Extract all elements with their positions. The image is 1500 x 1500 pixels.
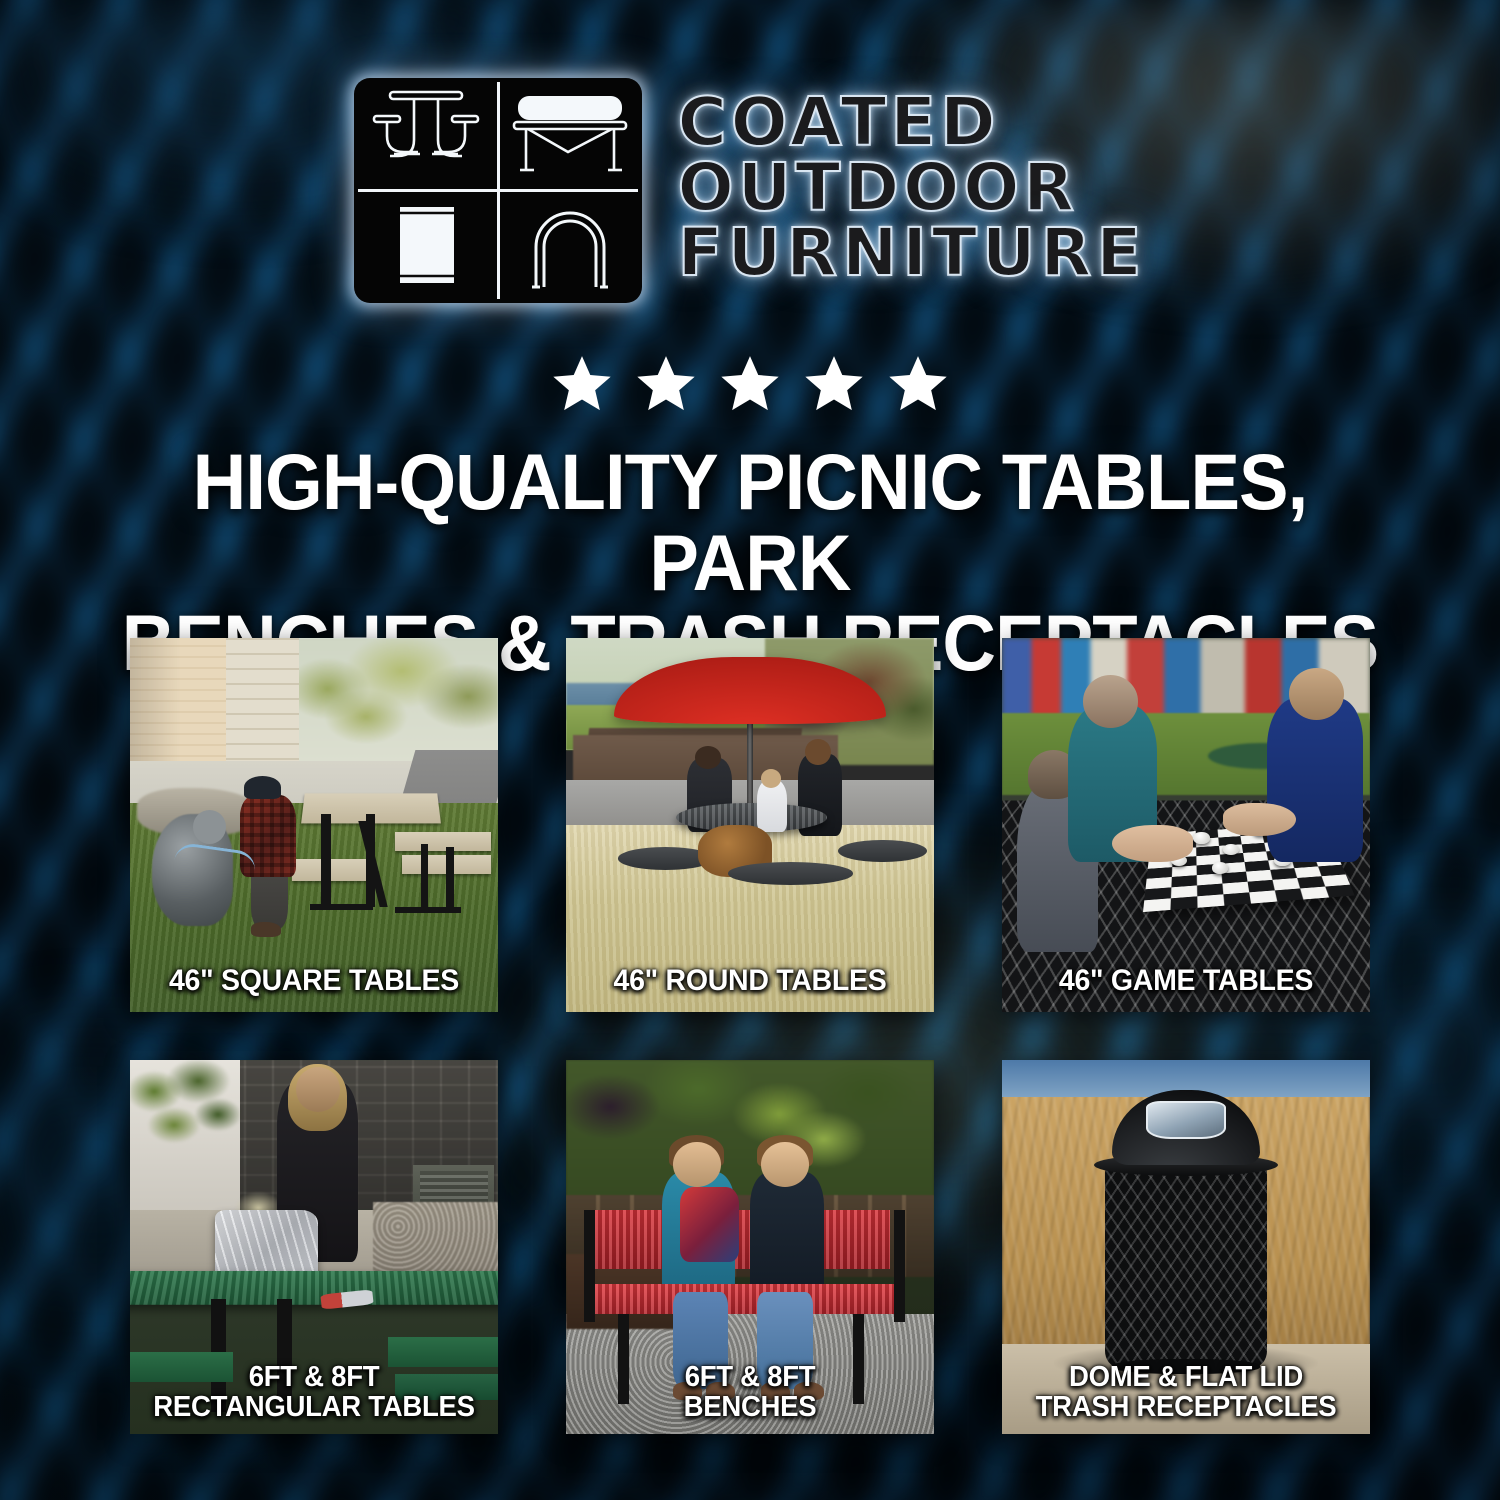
photo-square-tables	[130, 638, 498, 1012]
caption-line-1: 46" GAME TABLES	[1017, 965, 1355, 996]
product-cell-trash-receptacles[interactable]: DOME & FLAT LID TRASH RECEPTACLES	[1002, 1060, 1370, 1434]
star-icon	[719, 352, 781, 414]
caption-line-2: BENCHES	[581, 1392, 919, 1422]
product-caption: 46" GAME TABLES	[1017, 965, 1355, 996]
product-cell-round-tables[interactable]: 46" ROUND TABLES	[566, 638, 934, 1012]
product-cell-square-tables[interactable]: 46" SQUARE TABLES	[130, 638, 498, 1012]
product-caption: DOME & FLAT LID TRASH RECEPTACLES	[1017, 1362, 1355, 1422]
caption-line-1: 46" SQUARE TABLES	[145, 965, 483, 996]
caption-line-2: TRASH RECEPTACLES	[1017, 1392, 1355, 1422]
product-cell-rectangular-tables[interactable]: 6FT & 8FT RECTANGULAR TABLES	[130, 1060, 498, 1434]
park-bench-icon	[498, 78, 642, 190]
product-grid: 46" SQUARE TABLES	[130, 638, 1370, 1434]
star-rating	[0, 352, 1500, 414]
star-icon	[551, 352, 613, 414]
brand-word-1: COATED	[678, 91, 1147, 155]
caption-line-1: 6FT & 8FT	[145, 1362, 483, 1392]
caption-line-1: 6FT & 8FT	[581, 1362, 919, 1392]
product-caption: 46" ROUND TABLES	[581, 965, 919, 996]
product-cell-game-tables[interactable]: 46" GAME TABLES	[1002, 638, 1370, 1012]
photo-round-tables	[566, 638, 934, 1012]
star-icon	[635, 352, 697, 414]
product-caption: 46" SQUARE TABLES	[145, 965, 483, 996]
brand-word-2: OUTDOOR	[678, 157, 1147, 220]
brand-word-3: FURNITURE	[678, 222, 1147, 285]
brand-logo: COATED OUTDOOR FURNITURE	[0, 70, 1500, 310]
product-caption: 6FT & 8FT BENCHES	[581, 1362, 919, 1422]
bike-rack-arch-icon	[498, 191, 642, 303]
four-quadrant-furniture-logo-icon	[354, 78, 642, 303]
headline-line-1: HIGH-QUALITY PICNIC TABLES, PARK	[101, 442, 1398, 603]
product-cell-benches[interactable]: 6FT & 8FT BENCHES	[566, 1060, 934, 1434]
caption-line-1: DOME & FLAT LID	[1017, 1362, 1355, 1392]
photo-game-tables	[1002, 638, 1370, 1012]
trash-receptacle-icon	[354, 191, 498, 303]
star-icon	[803, 352, 865, 414]
brand-wordmark: COATED OUTDOOR FURNITURE	[678, 91, 1147, 288]
caption-line-2: RECTANGULAR TABLES	[145, 1392, 483, 1422]
logo-divider-horizontal	[358, 189, 638, 192]
star-icon	[887, 352, 949, 414]
picnic-table-icon	[354, 78, 498, 190]
product-caption: 6FT & 8FT RECTANGULAR TABLES	[145, 1362, 483, 1422]
ad-banner: COATED OUTDOOR FURNITURE HIGH-QUALITY PI…	[0, 0, 1500, 1500]
caption-line-1: 46" ROUND TABLES	[581, 965, 919, 996]
